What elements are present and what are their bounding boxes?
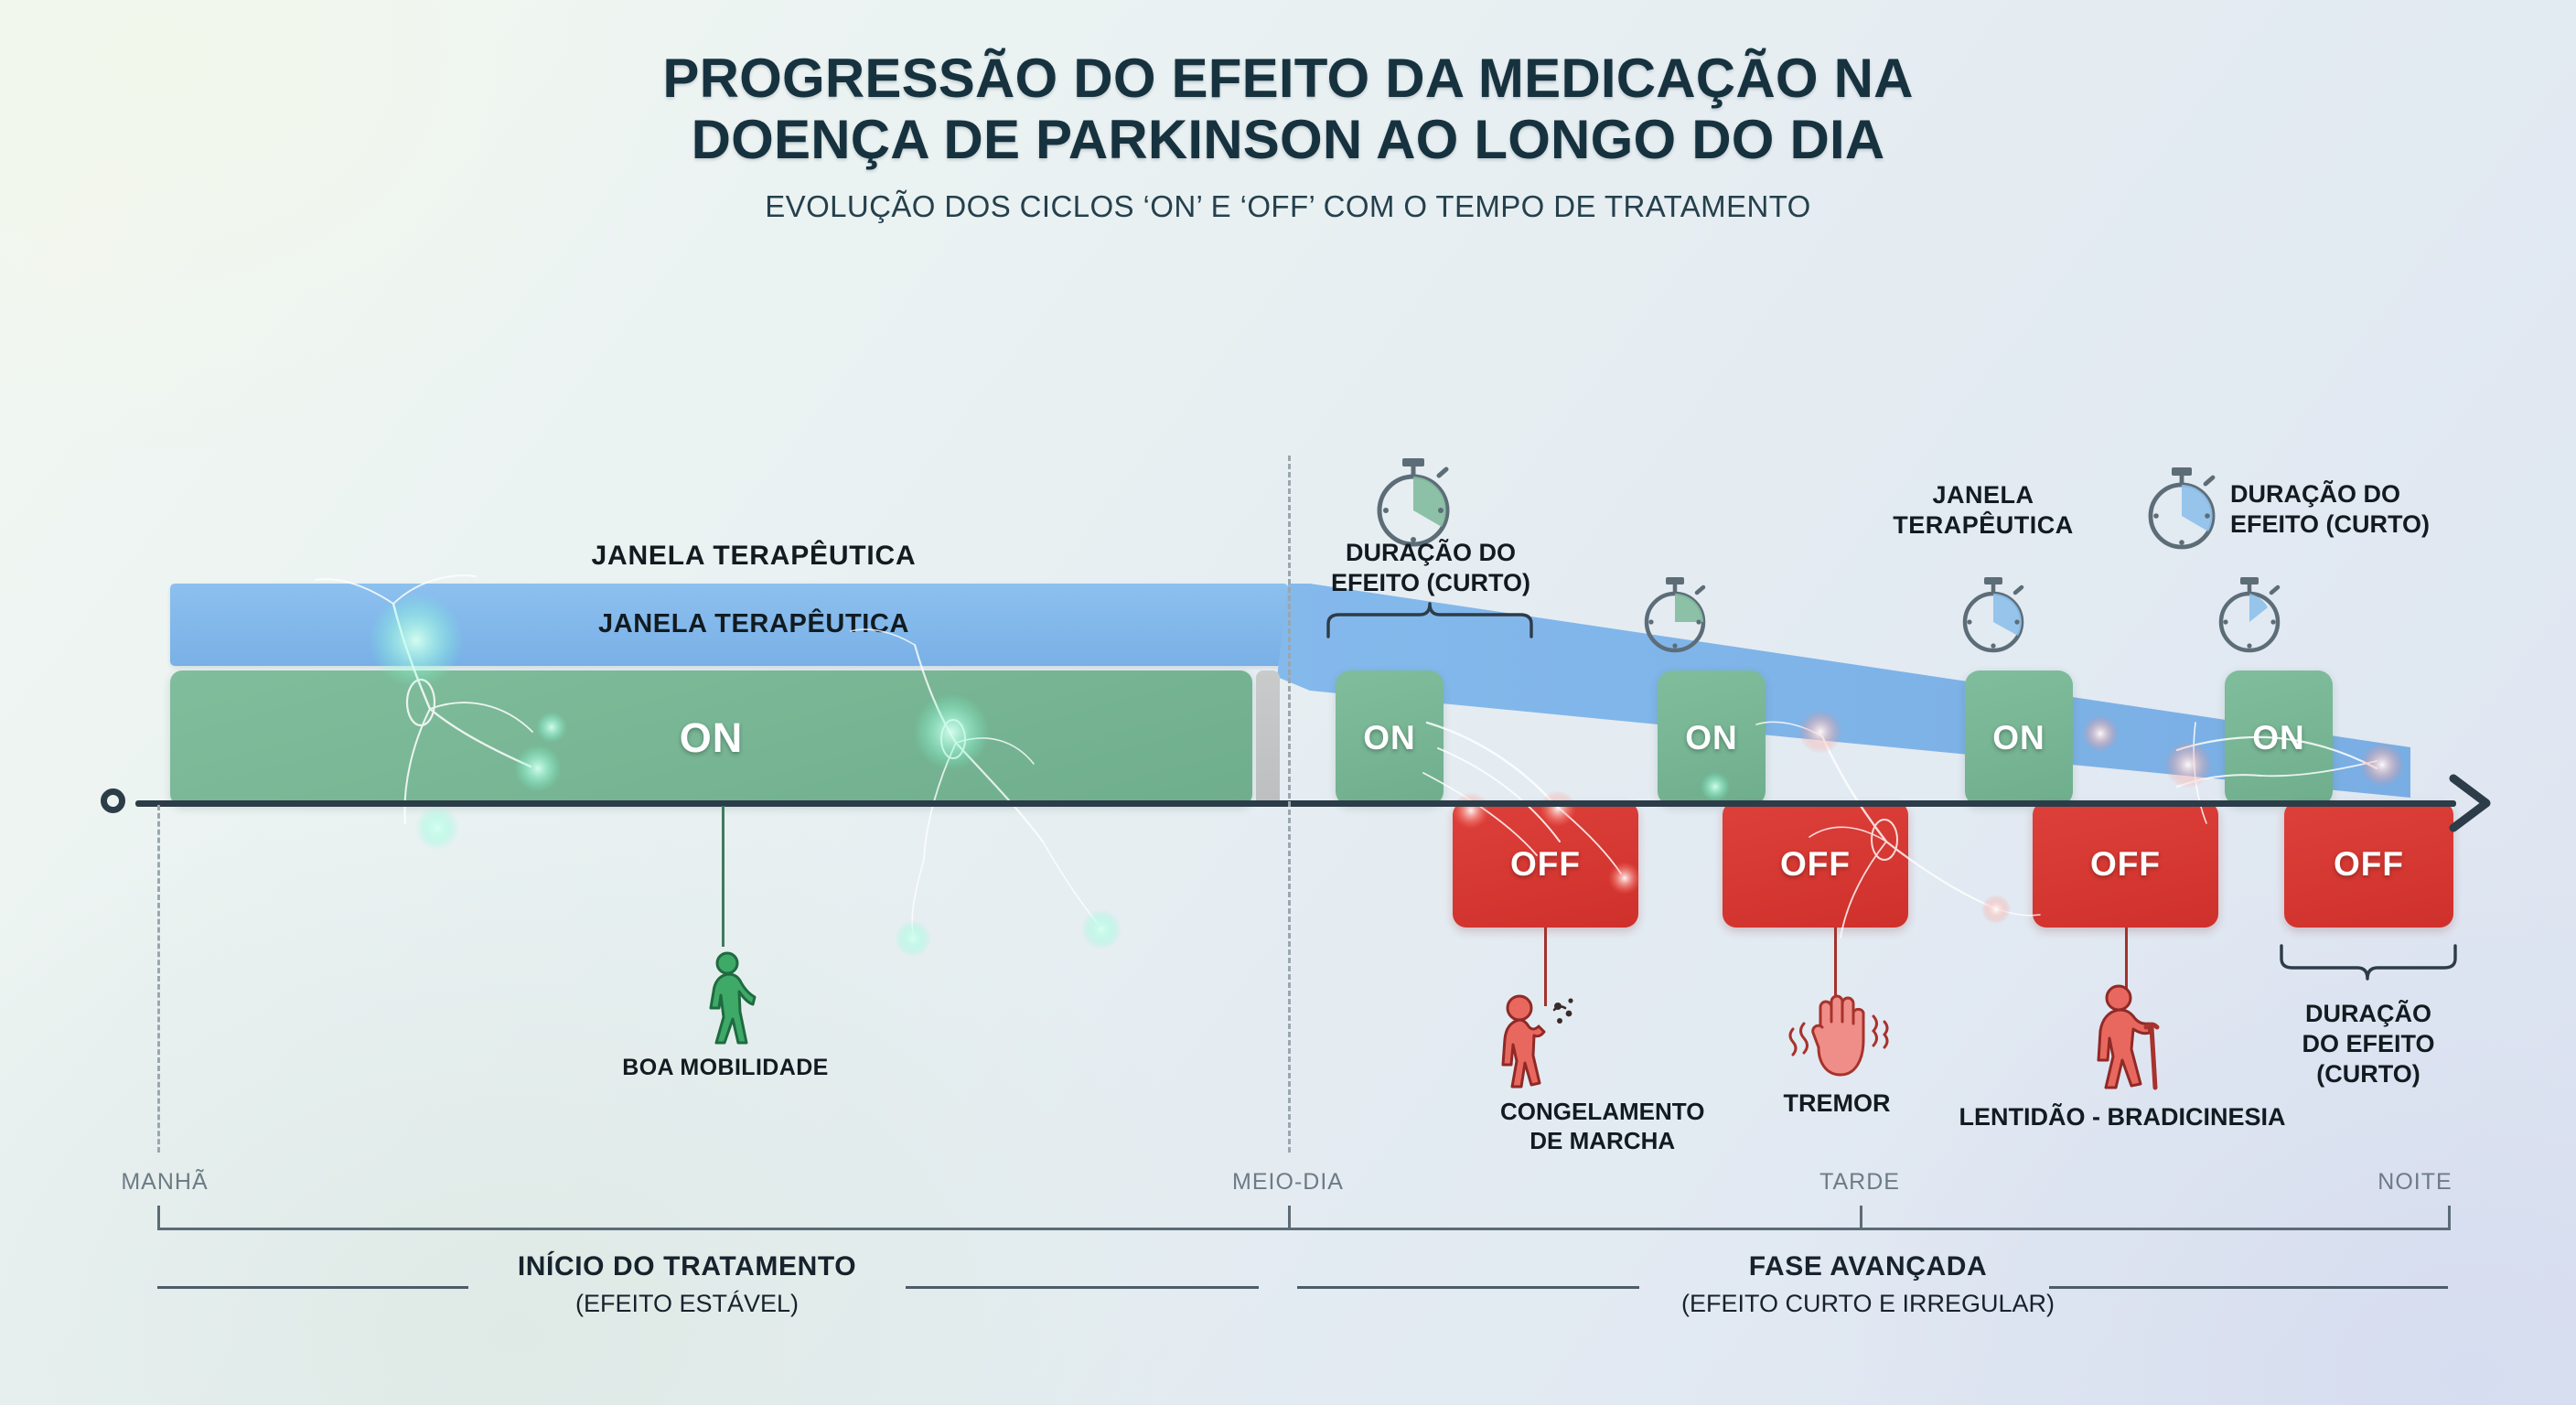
symptom-label-tremor: TREMOR (1784, 1089, 1891, 1119)
off-block-2-label: OFF (1780, 845, 1851, 884)
symptom-label-freezing-line1: CONGELAMENTO (1500, 1098, 1704, 1127)
phase-rule-left-2 (906, 1286, 1259, 1289)
infographic-canvas: PROGRESSÃO DO EFEITO DA MEDICAÇÃO NA DOE… (0, 0, 2576, 1405)
page-title: PROGRESSÃO DO EFEITO DA MEDICAÇÃO NA DOE… (0, 48, 2576, 170)
duration-callout-bottom-line1: DURAÇÃO (2302, 999, 2434, 1029)
on-block-1-label: ON (1363, 719, 1416, 757)
on-block-1[interactable]: ON (1336, 670, 1444, 806)
on-block-3[interactable]: ON (1965, 670, 2073, 806)
timeline-arrow-icon (2446, 771, 2503, 835)
phase-avancada: FASE AVANÇADA (EFEITO CURTO E IRREGULAR) (1681, 1251, 2055, 1318)
on-block-early-label: ON (680, 714, 744, 762)
page-title-line2: DOENÇA DE PARKINSON AO LONGO DO DIA (0, 109, 2576, 170)
phase-rule-right-2 (2049, 1286, 2448, 1289)
symptom-label-freezing: CONGELAMENTO DE MARCHA (1500, 1098, 1704, 1155)
tw-right-line1: JANELA (1893, 480, 2074, 510)
duration-callout-2: DURAÇÃO DO EFEITO (CURTO) (2230, 479, 2430, 540)
stopwatch-icon-4 (1956, 574, 2031, 659)
ruler-tick-tarde (1860, 1206, 1862, 1229)
duration-callout-bottom-line2: DO EFEITO (2302, 1029, 2434, 1059)
time-label-manha: MANHÃ (121, 1169, 208, 1196)
duration-callout-2-line1: DURAÇÃO DO (2230, 479, 2430, 509)
timeline-origin-marker (101, 788, 125, 813)
phase-avancada-sub: (EFEITO CURTO E IRREGULAR) (1681, 1290, 2055, 1318)
tremor-hand-icon (1784, 983, 1894, 1086)
symptom-label-freezing-line2: DE MARCHA (1500, 1127, 1704, 1156)
duration-callout-2-line2: EFEITO (CURTO) (2230, 509, 2430, 540)
off-block-3-label: OFF (2090, 845, 2161, 884)
duration-callout-1-line2: EFEITO (CURTO) (1331, 568, 1530, 598)
divider-midday (1288, 456, 1291, 1153)
on-block-4-label: ON (2252, 719, 2305, 757)
connector-mobility (722, 806, 724, 947)
time-label-meiodia: MEIO-DIA (1232, 1169, 1344, 1196)
on-block-early[interactable]: ON (170, 670, 1252, 806)
time-label-tarde: TARDE (1819, 1169, 1900, 1196)
ruler-tick-manha (157, 1206, 160, 1229)
phase-rule-right-1 (1297, 1286, 1639, 1289)
duration-brace-bottom (2278, 942, 2459, 986)
stopwatch-icon-3 (2141, 465, 2223, 556)
on-block-3-label: ON (1992, 719, 2045, 757)
duration-brace-1 (1325, 596, 1535, 640)
symptom-label-brady: LENTIDÃO - BRADICINESIA (1959, 1102, 2286, 1132)
duration-callout-1-line1: DURAÇÃO DO (1331, 538, 1530, 568)
freezing-gait-icon (1487, 990, 1587, 1092)
off-block-1-label: OFF (1510, 845, 1581, 884)
page-title-line1: PROGRESSÃO DO EFEITO DA MEDICAÇÃO NA (0, 48, 2576, 109)
divider-morning (157, 805, 160, 1153)
duration-callout-bottom: DURAÇÃO DO EFEITO (CURTO) (2302, 999, 2434, 1089)
off-block-4[interactable]: OFF (2284, 801, 2453, 928)
on-block-4[interactable]: ON (2225, 670, 2333, 806)
ruler-tick-meiodia (1288, 1206, 1291, 1229)
off-block-1[interactable]: OFF (1453, 801, 1638, 928)
therapeutic-window-label-right: JANELA TERAPÊUTICA (1893, 480, 2074, 541)
tw-right-line2: TERAPÊUTICA (1893, 510, 2074, 541)
duration-callout-bottom-line3: (CURTO) (2302, 1059, 2434, 1089)
time-label-noite: NOITE (2377, 1169, 2452, 1196)
stopwatch-icon-5 (2212, 574, 2287, 659)
walking-person-icon (691, 951, 760, 1054)
stopwatch-icon-2 (1637, 574, 1712, 659)
person-with-cane-icon (2078, 983, 2179, 1095)
on-block-2[interactable]: ON (1658, 670, 1766, 806)
phase-inicio: INÍCIO DO TRATAMENTO (EFEITO ESTÁVEL) (518, 1251, 856, 1318)
off-block-3[interactable]: OFF (2033, 801, 2218, 928)
phase-inicio-title: INÍCIO DO TRATAMENTO (518, 1251, 856, 1282)
transition-grey-bar (1256, 670, 1280, 806)
phase-inicio-sub: (EFEITO ESTÁVEL) (518, 1290, 856, 1318)
therapeutic-window-label-inside: JANELA TERAPÊUTICA (598, 608, 909, 640)
off-block-2[interactable]: OFF (1723, 801, 1908, 928)
therapeutic-window-label-above: JANELA TERAPÊUTICA (592, 540, 917, 574)
page-subtitle: EVOLUÇÃO DOS CICLOS ‘ON’ E ‘OFF’ COM O T… (0, 189, 2576, 224)
header-block: PROGRESSÃO DO EFEITO DA MEDICAÇÃO NA DOE… (0, 48, 2576, 224)
timeline-ruler (157, 1228, 2451, 1230)
ruler-tick-noite (2448, 1206, 2451, 1229)
symptom-label-mobility: BOA MOBILIDADE (622, 1054, 829, 1082)
on-block-2-label: ON (1685, 719, 1738, 757)
off-block-4-label: OFF (2334, 845, 2404, 884)
duration-callout-1: DURAÇÃO DO EFEITO (CURTO) (1331, 538, 1530, 598)
phase-avancada-title: FASE AVANÇADA (1681, 1251, 2055, 1282)
phase-rule-left-1 (157, 1286, 468, 1289)
timeline-axis (135, 800, 2456, 807)
